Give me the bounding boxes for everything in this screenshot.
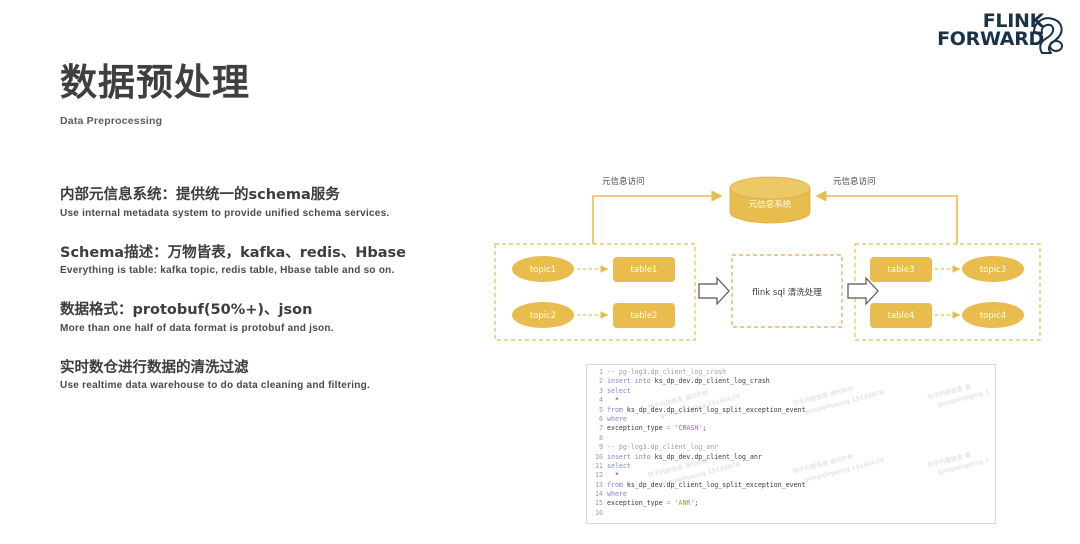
process-box <box>732 255 842 327</box>
code-text: -- pg-log3.dp_client_log_crash <box>607 368 726 377</box>
code-text: exception_type = 'CRASH'; <box>607 424 706 433</box>
code-line: 16 <box>587 509 995 518</box>
topic2-node <box>512 302 574 328</box>
code-text: -- pg-log3.dp_client_log_anr <box>607 443 718 452</box>
line-number: 4 <box>587 396 607 405</box>
code-text: where <box>607 415 627 424</box>
code-text: * <box>607 396 619 405</box>
code-line: 1-- pg-log3.dp_client_log_crash <box>587 368 995 377</box>
line-number: 2 <box>587 377 607 386</box>
bullet-heading-cn: 数据格式：protobuf(50%+)、json <box>60 301 490 321</box>
bullet-item: 内部元信息系统：提供统一的schema服务 Use internal metad… <box>60 186 490 219</box>
line-number: 14 <box>587 490 607 499</box>
line-number: 3 <box>587 387 607 396</box>
code-text: from ks_dp_dev.dp_client_log_split_excep… <box>607 481 806 490</box>
code-text: where <box>607 490 627 499</box>
code-line: 12 * <box>587 471 995 480</box>
flink-forward-logo: FLINK FORWARD <box>922 8 1072 58</box>
page-subtitle: Data Preprocessing <box>60 115 250 127</box>
topic3-node <box>962 256 1024 282</box>
code-text: insert into ks_dp_dev.dp_client_log_anr <box>607 453 762 462</box>
code-line: 5from ks_dp_dev.dp_client_log_split_exce… <box>587 406 995 415</box>
bullet-heading-en: Use internal metadata system to provide … <box>60 208 490 219</box>
code-text: select <box>607 462 631 471</box>
line-number: 7 <box>587 424 607 433</box>
code-line: 6where <box>587 415 995 424</box>
code-line: 4 * <box>587 396 995 405</box>
code-line: 8 <box>587 434 995 443</box>
code-line: 14where <box>587 490 995 499</box>
topic4-node <box>962 302 1024 328</box>
code-text: exception_type = 'ANR'; <box>607 499 698 508</box>
edge-label-right: 元信息访问 <box>833 175 876 187</box>
line-number: 8 <box>587 434 607 443</box>
code-line: 10insert into ks_dp_dev.dp_client_log_an… <box>587 453 995 462</box>
table1-node <box>613 257 675 282</box>
line-number: 12 <box>587 471 607 480</box>
code-text: select <box>607 387 631 396</box>
line-number: 15 <box>587 499 607 508</box>
slide-title-block: 数据预处理 Data Preprocessing <box>60 62 250 127</box>
line-number: 6 <box>587 415 607 424</box>
table4-node <box>870 303 932 328</box>
code-text: from ks_dp_dev.dp_client_log_split_excep… <box>607 406 806 415</box>
code-line: 11select <box>587 462 995 471</box>
metastore-cylinder <box>730 177 810 223</box>
code-line: 13from ks_dp_dev.dp_client_log_split_exc… <box>587 481 995 490</box>
line-number: 16 <box>587 509 607 518</box>
page-title: 数据预处理 <box>60 62 250 105</box>
bullet-item: Schema描述：万物皆表，kafka、redis、Hbase Everythi… <box>60 244 490 277</box>
code-text: insert into ks_dp_dev.dp_client_log_cras… <box>607 377 770 386</box>
line-number: 1 <box>587 368 607 377</box>
table2-node <box>613 303 675 328</box>
bullet-list: 内部元信息系统：提供统一的schema服务 Use internal metad… <box>60 186 490 391</box>
code-line: 7exception_type = 'CRASH'; <box>587 424 995 433</box>
bullet-heading-en: Everything is table: kafka topic, redis … <box>60 265 490 276</box>
line-number: 13 <box>587 481 607 490</box>
bullet-heading-en: More than one half of data format is pro… <box>60 323 490 334</box>
squirrel-mascot-icon <box>1024 10 1070 56</box>
topic1-node <box>512 256 574 282</box>
bullet-heading-cn: 实时数仓进行数据的清洗过滤 <box>60 359 490 379</box>
line-number: 10 <box>587 453 607 462</box>
table3-node <box>870 257 932 282</box>
line-number: 9 <box>587 443 607 452</box>
line-number: 5 <box>587 406 607 415</box>
code-line: 15exception_type = 'ANR'; <box>587 499 995 508</box>
code-lines-container[interactable]: 1-- pg-log3.dp_client_log_crash2insert i… <box>587 365 995 523</box>
bullet-heading-cn: 内部元信息系统：提供统一的schema服务 <box>60 186 490 206</box>
flow-arrow-left <box>699 278 729 304</box>
line-number: 11 <box>587 462 607 471</box>
bullet-heading-en: Use realtime data warehouse to do data c… <box>60 380 490 391</box>
bullet-heading-cn: Schema描述：万物皆表，kafka、redis、Hbase <box>60 244 490 264</box>
edge-label-left: 元信息访问 <box>602 175 645 187</box>
architecture-diagram: 元信息访问 元信息访问 元信息系统 topic1 table1 topic2 t… <box>485 172 1045 347</box>
code-line: 2insert into ks_dp_dev.dp_client_log_cra… <box>587 377 995 386</box>
diagram-canvas <box>485 172 1045 347</box>
code-line: 3select <box>587 387 995 396</box>
bullet-item: 数据格式：protobuf(50%+)、json More than one h… <box>60 301 490 334</box>
sql-code-panel: 快手内部信息 请勿外传 gongqingqing 15146078 快手内部信息… <box>586 364 996 524</box>
code-text: * <box>607 471 619 480</box>
bullet-item: 实时数仓进行数据的清洗过滤 Use realtime data warehous… <box>60 359 490 392</box>
code-line: 9-- pg-log3.dp_client_log_anr <box>587 443 995 452</box>
